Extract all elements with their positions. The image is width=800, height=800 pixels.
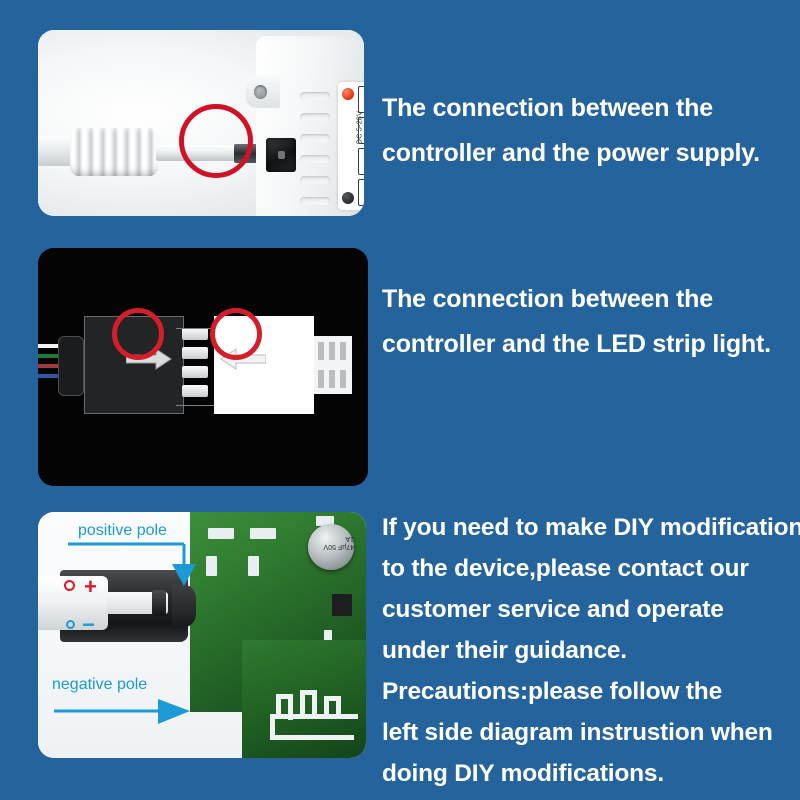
highlight-circle-strip-side [210, 308, 262, 360]
negative-pole-arrow-icon [52, 698, 192, 726]
screw-icon [342, 192, 354, 204]
controller-vent-slots [300, 92, 332, 204]
caption-power-supply: The connection between the controller an… [382, 86, 760, 176]
smd-component [250, 528, 276, 539]
caption-line: left side diagram instrustion when [382, 712, 800, 753]
caption-line: doing DIY modifications. [382, 753, 800, 794]
dc-plug-tip-ring [152, 590, 166, 616]
caption-line: under their guidance. [382, 630, 800, 671]
smd-component [206, 556, 217, 576]
fc-mark-icon: FC [358, 148, 364, 175]
negative-pole-marker-ring [66, 620, 75, 629]
smd-component [248, 556, 259, 576]
highlight-circle-controller-side [112, 308, 164, 360]
weee-mark-icon: ⚙ [358, 179, 364, 206]
ic-chip [332, 594, 352, 616]
caption-line: Precautions:please follow the [382, 671, 800, 712]
connector-pins [182, 328, 214, 404]
controller-power-connection-photo: DC 5-28V CE RoHS FC ⚙ [38, 30, 364, 216]
wifi-antenna-trace [270, 690, 358, 744]
pcb-polarity-diagram-photo: 47µF 50V 1A + − positive pole [38, 512, 366, 758]
caption-line: If you need to make DIY modification [382, 507, 800, 548]
led-strip-end [314, 336, 352, 394]
status-led-icon [342, 88, 354, 100]
plug-grip [70, 128, 158, 176]
caption-line: to the device,please contact our [382, 548, 800, 589]
certification-marks: CE RoHS FC ⚙ [358, 86, 364, 210]
caption-line: customer service and operate [382, 589, 800, 630]
caption-diy-modification: If you need to make DIY modification to … [382, 507, 800, 794]
dc-input-socket [266, 138, 296, 172]
capacitor-label: 47µF 50V 1A [316, 534, 354, 550]
ce-mark-icon: CE [358, 86, 364, 113]
wire-connector-cap [58, 336, 84, 396]
caption-line: controller and the LED strip light. [382, 322, 771, 367]
mounting-tab [246, 76, 280, 108]
negative-pole-label: negative pole [52, 676, 147, 694]
positive-pole-label: positive pole [78, 522, 167, 540]
positive-pole-arrow-icon [66, 542, 196, 588]
highlight-circle [179, 104, 253, 178]
caption-line: controller and the power supply. [382, 131, 760, 176]
electrolytic-capacitor: 47µF 50V 1A [308, 524, 354, 570]
controller-rating-label: DC 5-28V CE RoHS FC ⚙ [338, 82, 364, 210]
smd-component [208, 528, 234, 539]
rohs-mark-icon: RoHS [358, 117, 364, 144]
caption-line: The connection between the [382, 86, 760, 131]
instruction-page: DC 5-28V CE RoHS FC ⚙ The connection bet… [0, 0, 800, 800]
caption-led-strip: The connection between the controller an… [382, 277, 771, 367]
caption-line: The connection between the [382, 277, 771, 322]
negative-sign-icon: − [82, 612, 95, 638]
controller-led-strip-connection-photo [38, 248, 368, 486]
